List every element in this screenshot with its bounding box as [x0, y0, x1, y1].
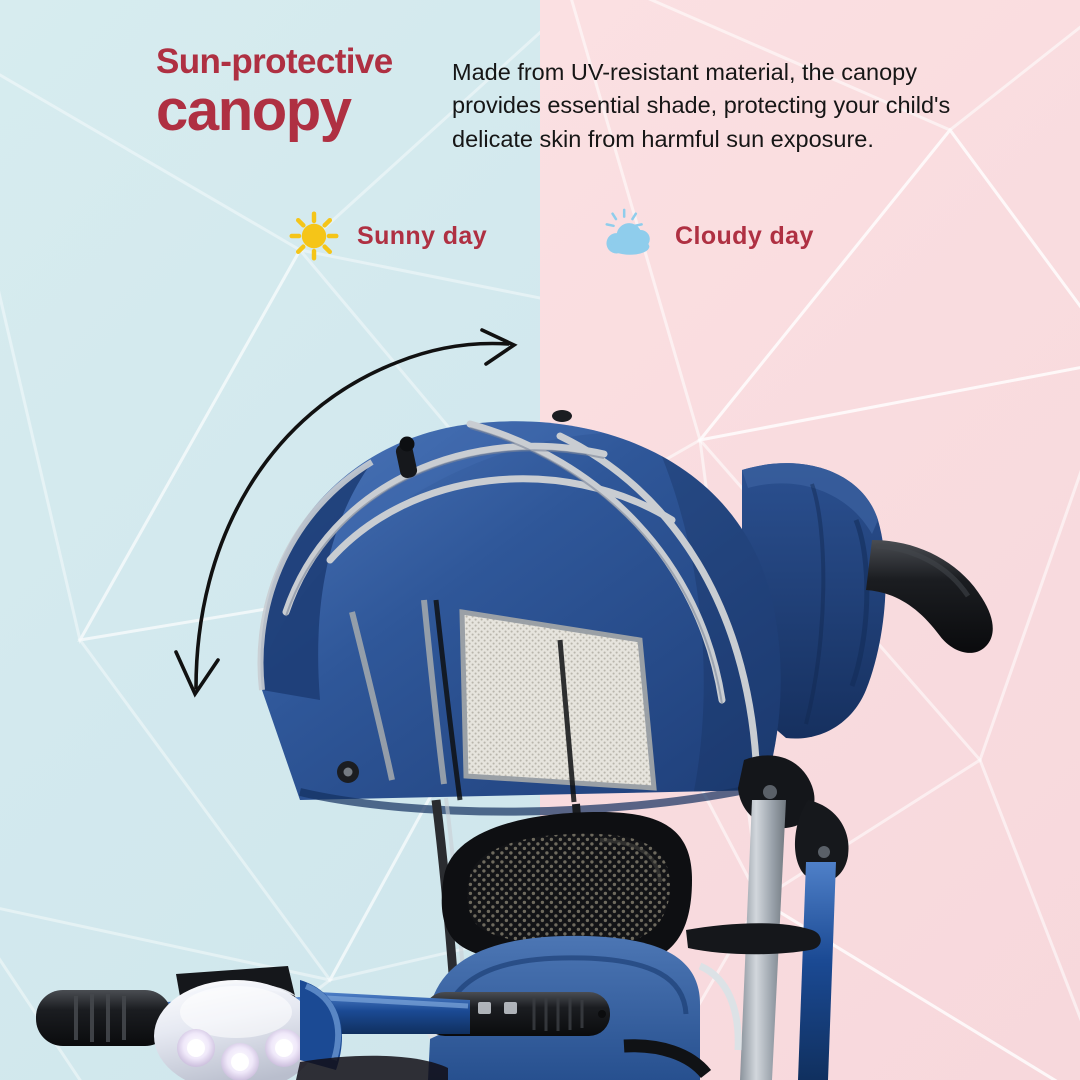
canopy-mesh-window [462, 612, 654, 788]
product-image-tricycle [0, 0, 1080, 1080]
handlebar-grip-left [36, 990, 172, 1046]
armrest-bar [686, 923, 821, 954]
seat-piping [700, 966, 738, 1050]
canopy-top-stud [552, 410, 572, 422]
front-frame-shadow [296, 1056, 448, 1080]
promo-banner: Sun-protective canopy Made from UV-resis… [0, 0, 1080, 1080]
